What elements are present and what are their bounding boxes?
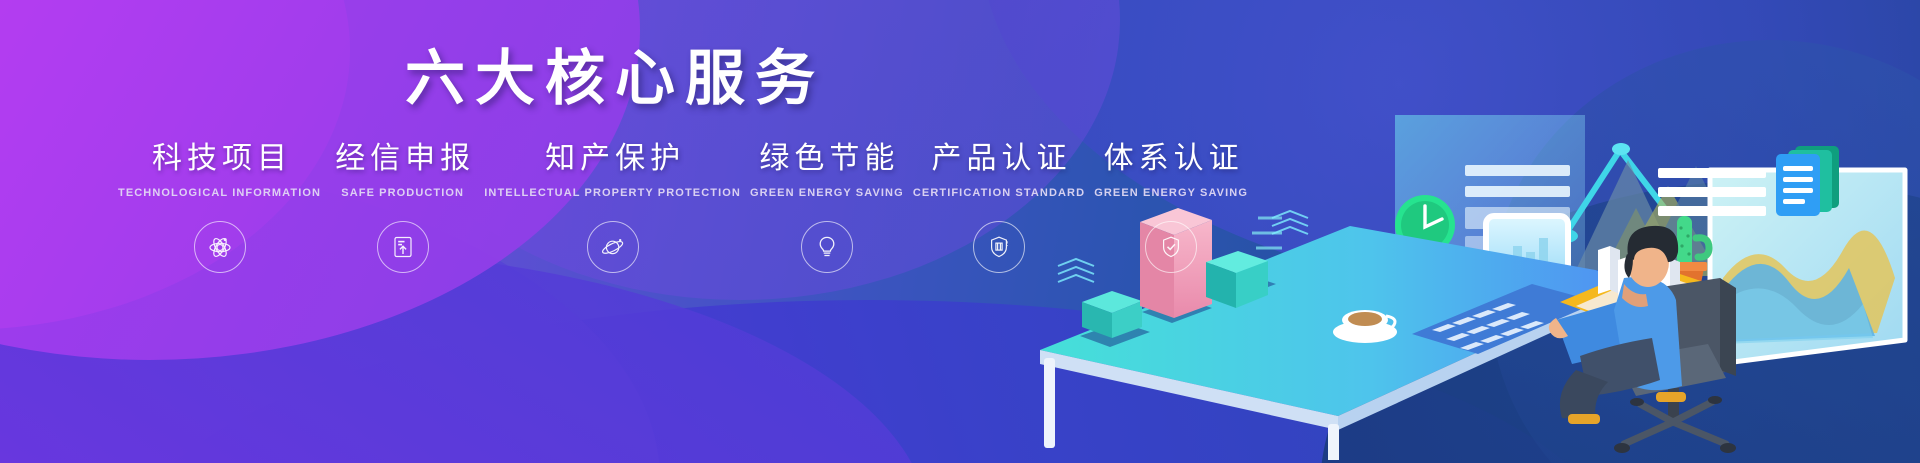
service-title: 产品认证 — [927, 140, 1072, 178]
service-title: 科技项目 — [147, 140, 292, 178]
shield-badge-icon[interactable] — [973, 221, 1025, 273]
service-title: 绿色节能 — [754, 140, 899, 178]
service-subtitle: GREEN ENERGY SAVING — [1094, 187, 1248, 199]
floating-line-marks — [1252, 218, 1282, 248]
service-subtitle: CERTIFICATION STANDARD — [913, 187, 1085, 199]
service-item-certification-standard[interactable]: 产品认证 CERTIFICATION STANDARD — [913, 140, 1085, 273]
card-text-lines — [1658, 168, 1766, 216]
service-item-technological-information[interactable]: 科技项目 TECHNOLOGICAL INFORMATION — [118, 140, 321, 273]
service-title: 体系认证 — [1099, 140, 1244, 178]
service-subtitle: GREEN ENERGY SAVING — [750, 187, 904, 199]
service-item-system-certification[interactable]: 体系认证 GREEN ENERGY SAVING — [1094, 140, 1248, 273]
service-item-intellectual-property-protection[interactable]: 知产保护 INTELLECTUAL PROPERTY PROTECTION — [484, 140, 741, 273]
service-subtitle: TECHNOLOGICAL INFORMATION — [118, 187, 321, 199]
atom-icon[interactable] — [194, 221, 246, 273]
planet-icon[interactable] — [587, 221, 639, 273]
service-subtitle: SAFE PRODUCTION — [341, 187, 464, 199]
banner-root: 六大核心服务 科技项目 TECHNOLOGICAL INFORMATION 经信… — [0, 0, 1920, 463]
service-title: 知产保护 — [540, 140, 685, 178]
service-list: 科技项目 TECHNOLOGICAL INFORMATION 经信申报 SAFE… — [118, 140, 1248, 330]
document-upload-icon[interactable] — [377, 221, 429, 273]
floating-document-card — [1776, 146, 1839, 216]
service-subtitle: INTELLECTUAL PROPERTY PROTECTION — [484, 187, 741, 199]
service-title: 经信申报 — [330, 140, 475, 178]
shield-check-icon[interactable] — [1145, 221, 1197, 273]
page-title: 六大核心服务 — [0, 30, 1230, 117]
lightbulb-icon[interactable] — [801, 221, 853, 273]
service-item-safe-production[interactable]: 经信申报 SAFE PRODUCTION — [330, 140, 475, 273]
service-item-green-energy-saving[interactable]: 绿色节能 GREEN ENERGY SAVING — [750, 140, 904, 273]
